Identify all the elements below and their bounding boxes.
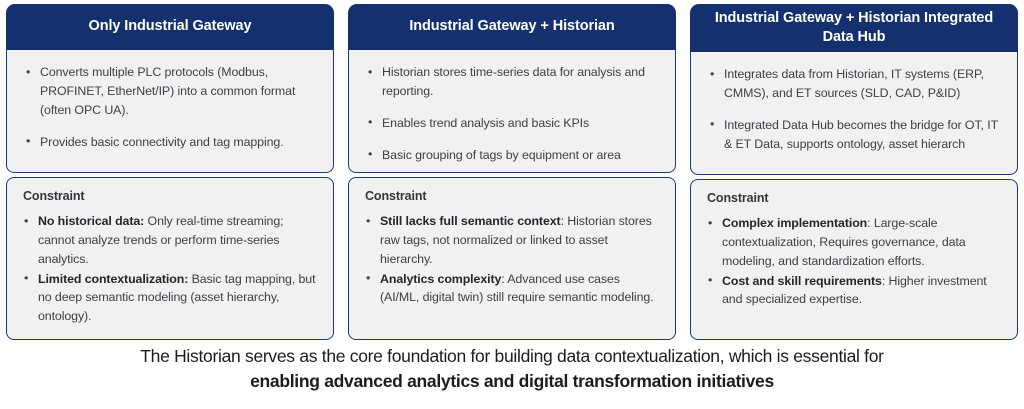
column-industrial-gateway-historian: Industrial Gateway + Historian Historian… [348, 4, 676, 340]
comparison-diagram: Only Industrial Gateway Converts multipl… [0, 0, 1024, 409]
column-3-benefits-panel: Integrates data from Historian, IT syste… [690, 52, 1018, 175]
column-1-constraint-list: No historical data: Only real-time strea… [21, 212, 319, 326]
caption-line-1: The Historian serves as the core foundat… [40, 344, 984, 369]
list-item: Historian stores time-series data for an… [363, 63, 661, 101]
column-2-title: Industrial Gateway + Historian [348, 4, 676, 50]
list-item: Analytics complexity: Advanced use cases… [363, 270, 661, 308]
list-item: Complex implementation: Large-scale cont… [705, 214, 1003, 271]
constraint-lead: No historical data: [38, 214, 144, 228]
columns-container: Only Industrial Gateway Converts multipl… [0, 0, 1024, 340]
constraint-lead: Complex implementation [722, 216, 867, 230]
constraint-lead: Limited contextualization: [38, 272, 188, 286]
column-3-title: Industrial Gateway + Historian Integrate… [690, 4, 1018, 52]
constraint-lead: Analytics complexity [380, 272, 501, 286]
column-3-benefits-list: Integrates data from Historian, IT syste… [705, 65, 1003, 153]
list-item: Integrated Data Hub becomes the bridge f… [705, 116, 1003, 154]
column-1-title: Only Industrial Gateway [6, 4, 334, 50]
list-item: Still lacks full semantic context: Histo… [363, 212, 661, 269]
list-item: Converts multiple PLC protocols (Modbus,… [21, 63, 319, 120]
list-item: Enables trend analysis and basic KPIs [363, 114, 661, 133]
column-1-constraint-panel: Constraint No historical data: Only real… [6, 177, 334, 340]
column-1-benefits-panel: Converts multiple PLC protocols (Modbus,… [6, 50, 334, 173]
constraint-label: Constraint [23, 189, 319, 203]
list-item: Limited contextualization: Basic tag map… [21, 270, 319, 327]
list-item: Basic grouping of tags by equipment or a… [363, 146, 661, 165]
column-2-benefits-panel: Historian stores time-series data for an… [348, 50, 676, 173]
column-3-constraint-panel: Constraint Complex implementation: Large… [690, 179, 1018, 340]
summary-caption: The Historian serves as the core foundat… [0, 344, 1024, 394]
column-2-benefits-list: Historian stores time-series data for an… [363, 63, 661, 164]
column-1-benefits-list: Converts multiple PLC protocols (Modbus,… [21, 63, 319, 151]
constraint-label: Constraint [365, 189, 661, 203]
column-2-constraint-panel: Constraint Still lacks full semantic con… [348, 177, 676, 340]
list-item: Provides basic connectivity and tag mapp… [21, 133, 319, 152]
list-item: No historical data: Only real-time strea… [21, 212, 319, 269]
column-integrated-data-hub: Industrial Gateway + Historian Integrate… [690, 4, 1018, 340]
constraint-label: Constraint [707, 191, 1003, 205]
list-item: Cost and skill requirements: Higher inve… [705, 272, 1003, 310]
column-3-constraint-list: Complex implementation: Large-scale cont… [705, 214, 1003, 309]
constraint-lead: Still lacks full semantic context [380, 214, 561, 228]
caption-line-2: enabling advanced analytics and digital … [40, 369, 984, 394]
column-only-industrial-gateway: Only Industrial Gateway Converts multipl… [6, 4, 334, 340]
constraint-lead: Cost and skill requirements [722, 274, 882, 288]
column-2-constraint-list: Still lacks full semantic context: Histo… [363, 212, 661, 307]
list-item: Integrates data from Historian, IT syste… [705, 65, 1003, 103]
